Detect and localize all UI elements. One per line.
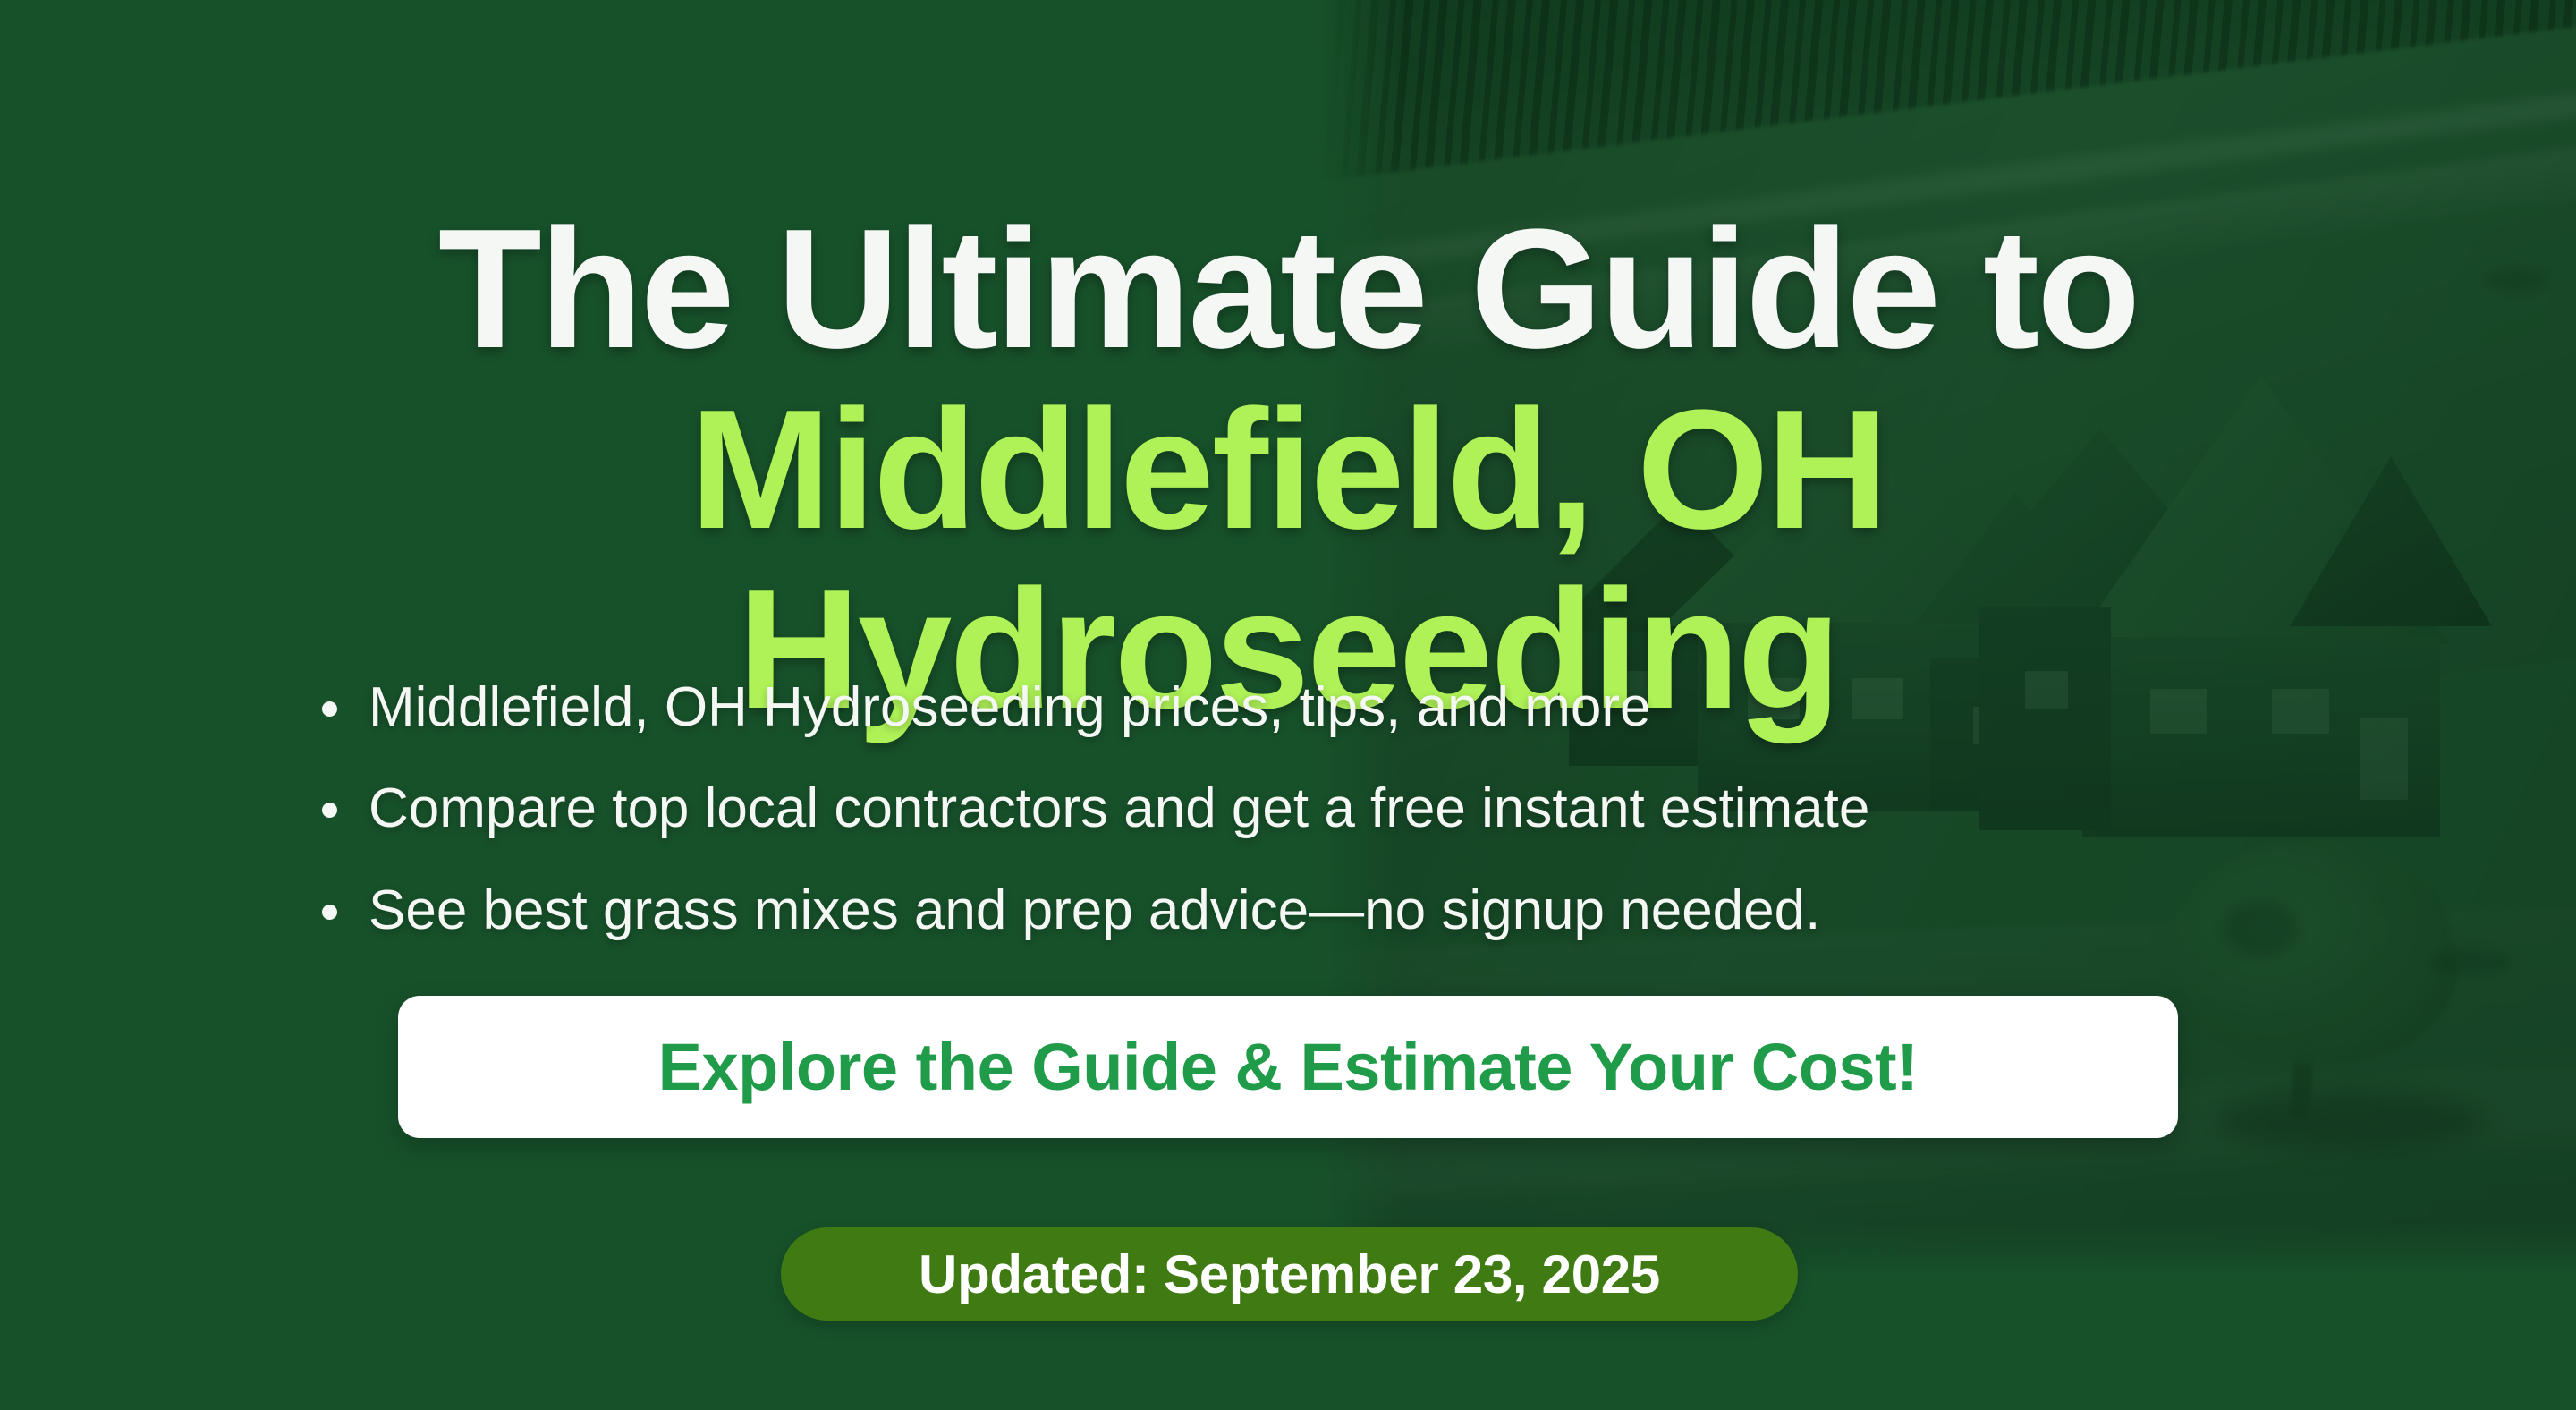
- updated-date-label: Updated: September 23, 2025: [919, 1244, 1660, 1305]
- page-title: The Ultimate Guide to Middlefield, OH Hy…: [0, 200, 2576, 740]
- headline-line-2: Middlefield, OH: [0, 380, 2576, 560]
- bullet-dot-icon: [322, 905, 337, 920]
- feature-list: Middlefield, OH Hydroseeding prices, tip…: [311, 676, 2279, 941]
- updated-date-badge: Updated: September 23, 2025: [781, 1227, 1798, 1321]
- explore-guide-button-label: Explore the Guide & Estimate Your Cost!: [658, 1029, 1919, 1105]
- list-item: Compare top local contractors and get a …: [311, 777, 2279, 839]
- list-item-label: See best grass mixes and prep advice—no …: [369, 879, 1820, 941]
- hero-banner: The Ultimate Guide to Middlefield, OH Hy…: [0, 0, 2576, 1410]
- list-item-label: Compare top local contractors and get a …: [369, 777, 1869, 839]
- bullet-dot-icon: [322, 701, 337, 717]
- list-item-label: Middlefield, OH Hydroseeding prices, tip…: [369, 676, 1651, 738]
- list-item: See best grass mixes and prep advice—no …: [311, 879, 2279, 941]
- explore-guide-button[interactable]: Explore the Guide & Estimate Your Cost!: [398, 996, 2178, 1138]
- headline-line-1: The Ultimate Guide to: [0, 200, 2576, 379]
- bullet-dot-icon: [322, 803, 337, 818]
- list-item: Middlefield, OH Hydroseeding prices, tip…: [311, 676, 2279, 738]
- hero-content: The Ultimate Guide to Middlefield, OH Hy…: [0, 0, 2576, 1410]
